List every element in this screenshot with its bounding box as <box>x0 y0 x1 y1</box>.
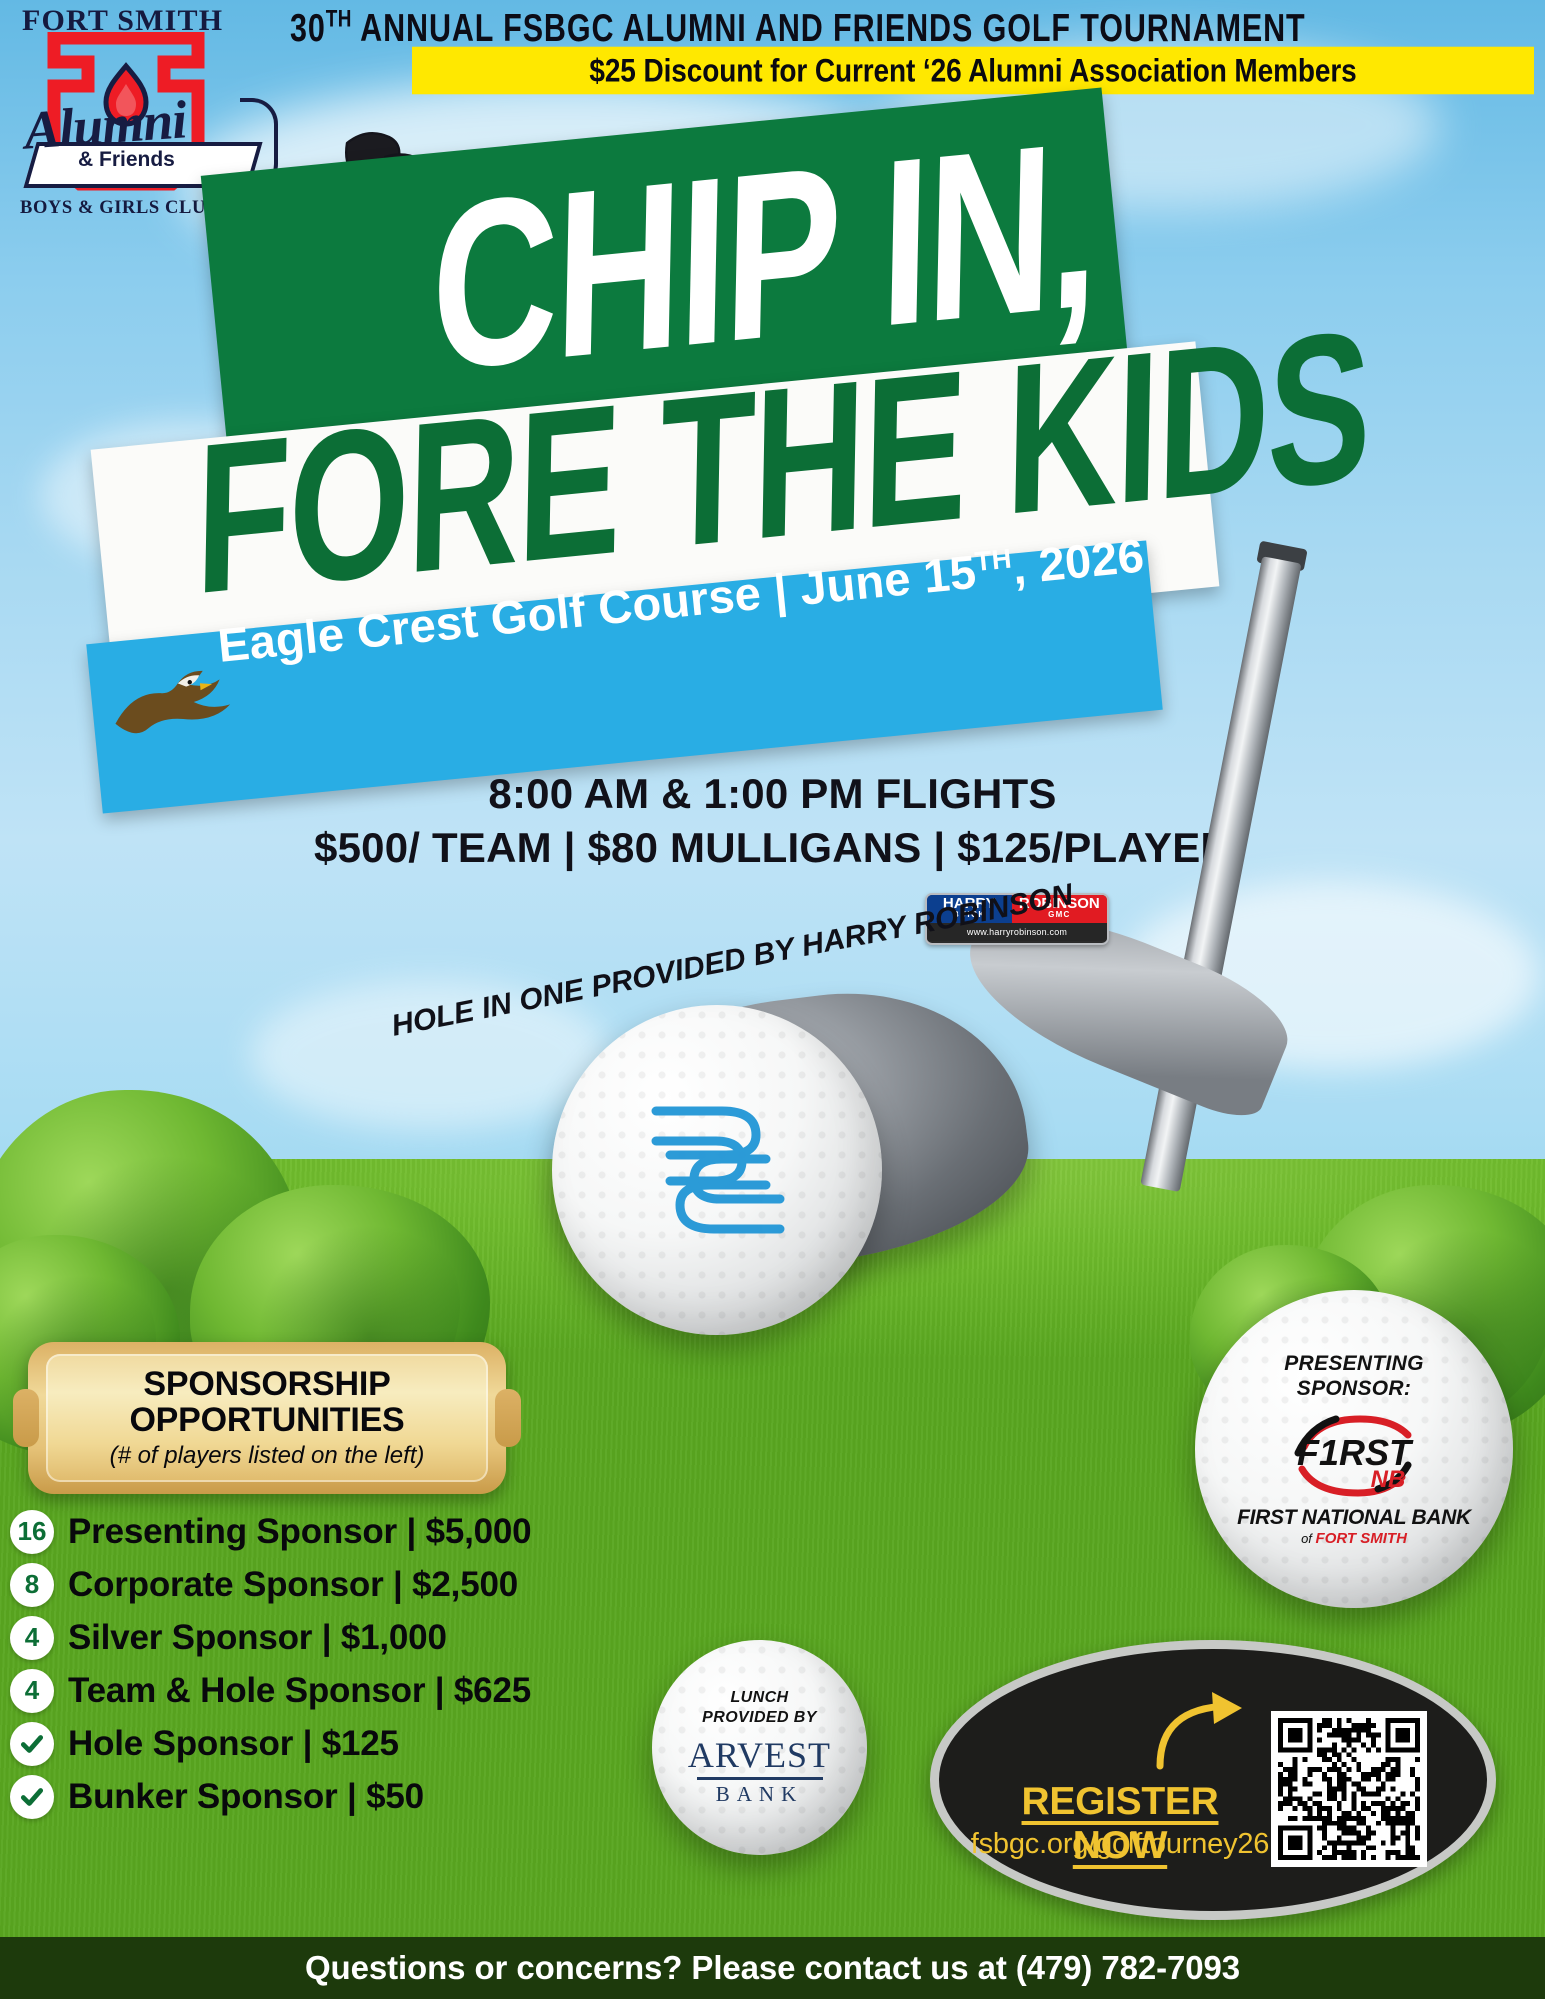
sponsorship-list: 16Presenting Sponsor | $5,0008Corporate … <box>10 1505 710 1823</box>
sponsorship-row: 4Silver Sponsor | $1,000 <box>10 1611 710 1664</box>
sponsorship-count-badge: 4 <box>10 1616 54 1660</box>
presenting-sponsor-city: of FORT SMITH <box>1301 1530 1407 1547</box>
sponsorship-row-label: Presenting Sponsor | $5,000 <box>68 1512 531 1552</box>
pricing-line: $500/ TEAM | $80 MULLIGANS | $125/PLAYER <box>0 824 1545 872</box>
sponsorship-note: (# of players listed on the left) <box>110 1442 425 1470</box>
lunch-sponsor-content: LUNCH PROVIDED BY ARVEST BANK <box>652 1640 867 1855</box>
lunch-sponsor-name: ARVEST <box>688 1734 831 1776</box>
sponsorship-count-badge: 8 <box>10 1563 54 1607</box>
page-title: 30TH ANNUAL FSBGC ALUMNI AND FRIENDS GOL… <box>290 6 1535 51</box>
curved-arrow-icon <box>1150 1690 1270 1770</box>
svg-text:NB: NB <box>1371 1466 1406 1493</box>
sponsorship-row: Bunker Sponsor | $50 <box>10 1770 710 1823</box>
sponsorship-plaque-inner: SPONSORSHIP OPPORTUNITIES (# of players … <box>46 1354 488 1482</box>
bgc-hands-icon <box>630 1095 805 1245</box>
sponsorship-row: 8Corporate Sponsor | $2,500 <box>10 1558 710 1611</box>
contact-footer: Questions or concerns? Please contact us… <box>0 1937 1545 1999</box>
sponsorship-count-badge: 4 <box>10 1669 54 1713</box>
lunch-sponsor-label-line1: LUNCH <box>702 1688 817 1708</box>
main-golf-ball <box>552 1005 882 1335</box>
sponsorship-row-label: Corporate Sponsor | $2,500 <box>68 1565 518 1605</box>
sponsorship-count-badge: 16 <box>10 1510 54 1554</box>
check-icon <box>19 1784 45 1810</box>
sponsorship-row-label: Team & Hole Sponsor | $625 <box>68 1671 531 1711</box>
contact-footer-text: Questions or concerns? Please contact us… <box>305 1949 1240 1987</box>
sponsorship-check-badge <box>10 1775 54 1819</box>
sponsorship-heading-line2: OPPORTUNITIES <box>129 1402 404 1438</box>
header-title-rest: ANNUAL FSBGC ALUMNI AND FRIENDS GOLF TOU… <box>352 6 1306 50</box>
sponsorship-row-label: Bunker Sponsor | $50 <box>68 1777 424 1817</box>
sponsorship-row: Hole Sponsor | $125 <box>10 1717 710 1770</box>
presenting-sponsor-label-line2: SPONSOR: <box>1284 1376 1424 1401</box>
sponsorship-row-label: Silver Sponsor | $1,000 <box>68 1618 447 1658</box>
lunch-sponsor-sub: BANK <box>716 1782 804 1807</box>
presenting-sponsor-content: PRESENTING SPONSOR: F1RST NB FIRST NATIO… <box>1195 1290 1513 1608</box>
discount-banner-text: $25 Discount for Current ‘26 Alumni Asso… <box>589 52 1356 89</box>
header-title-number: 30 <box>290 6 326 50</box>
venue-ordinal: TH <box>973 543 1013 577</box>
sponsorship-row: 16Presenting Sponsor | $5,000 <box>10 1505 710 1558</box>
sponsorship-row-label: Hole Sponsor | $125 <box>68 1724 399 1764</box>
presenting-sponsor-city-name: FORT SMITH <box>1316 1530 1407 1547</box>
presenting-sponsor-golf-ball: PRESENTING SPONSOR: F1RST NB FIRST NATIO… <box>1195 1290 1513 1608</box>
discount-banner: $25 Discount for Current ‘26 Alumni Asso… <box>412 47 1534 95</box>
sponsorship-check-badge <box>10 1722 54 1766</box>
flight-times: 8:00 AM & 1:00 PM FLIGHTS <box>0 770 1545 818</box>
presenting-sponsor-label-line1: PRESENTING <box>1284 1351 1424 1376</box>
register-url[interactable]: fsbgc.org/golftourney26 <box>955 1828 1285 1861</box>
check-icon <box>19 1731 45 1757</box>
golf-tournament-flyer: 30TH ANNUAL FSBGC ALUMNI AND FRIENDS GOL… <box>0 0 1545 1999</box>
lunch-sponsor-label: LUNCH PROVIDED BY <box>702 1688 817 1728</box>
lunch-sponsor-golf-ball: LUNCH PROVIDED BY ARVEST BANK <box>652 1640 867 1855</box>
main-golf-ball-content <box>552 1005 882 1335</box>
first-national-bank-logo: F1RST NB <box>1274 1407 1434 1502</box>
sponsorship-heading-line1: SPONSORSHIP <box>143 1366 390 1402</box>
qr-code[interactable] <box>1271 1711 1427 1867</box>
presenting-sponsor-name: FIRST NATIONAL BANK <box>1237 1506 1471 1530</box>
lunch-sponsor-label-line2: PROVIDED BY <box>702 1708 817 1728</box>
logo-friends-text: & Friends <box>78 148 175 172</box>
f1rst-nb-mark-icon: F1RST NB <box>1274 1407 1434 1502</box>
header-title-ordinal: TH <box>326 6 352 33</box>
presenting-sponsor-label: PRESENTING SPONSOR: <box>1284 1351 1424 1401</box>
lunch-sponsor-divider <box>697 1777 823 1780</box>
presenting-sponsor-of: of <box>1301 1531 1315 1546</box>
logo-boys-girls-clubs-text: BOYS & GIRLS CLUBS <box>20 198 230 219</box>
sponsorship-row: 4Team & Hole Sponsor | $625 <box>10 1664 710 1717</box>
